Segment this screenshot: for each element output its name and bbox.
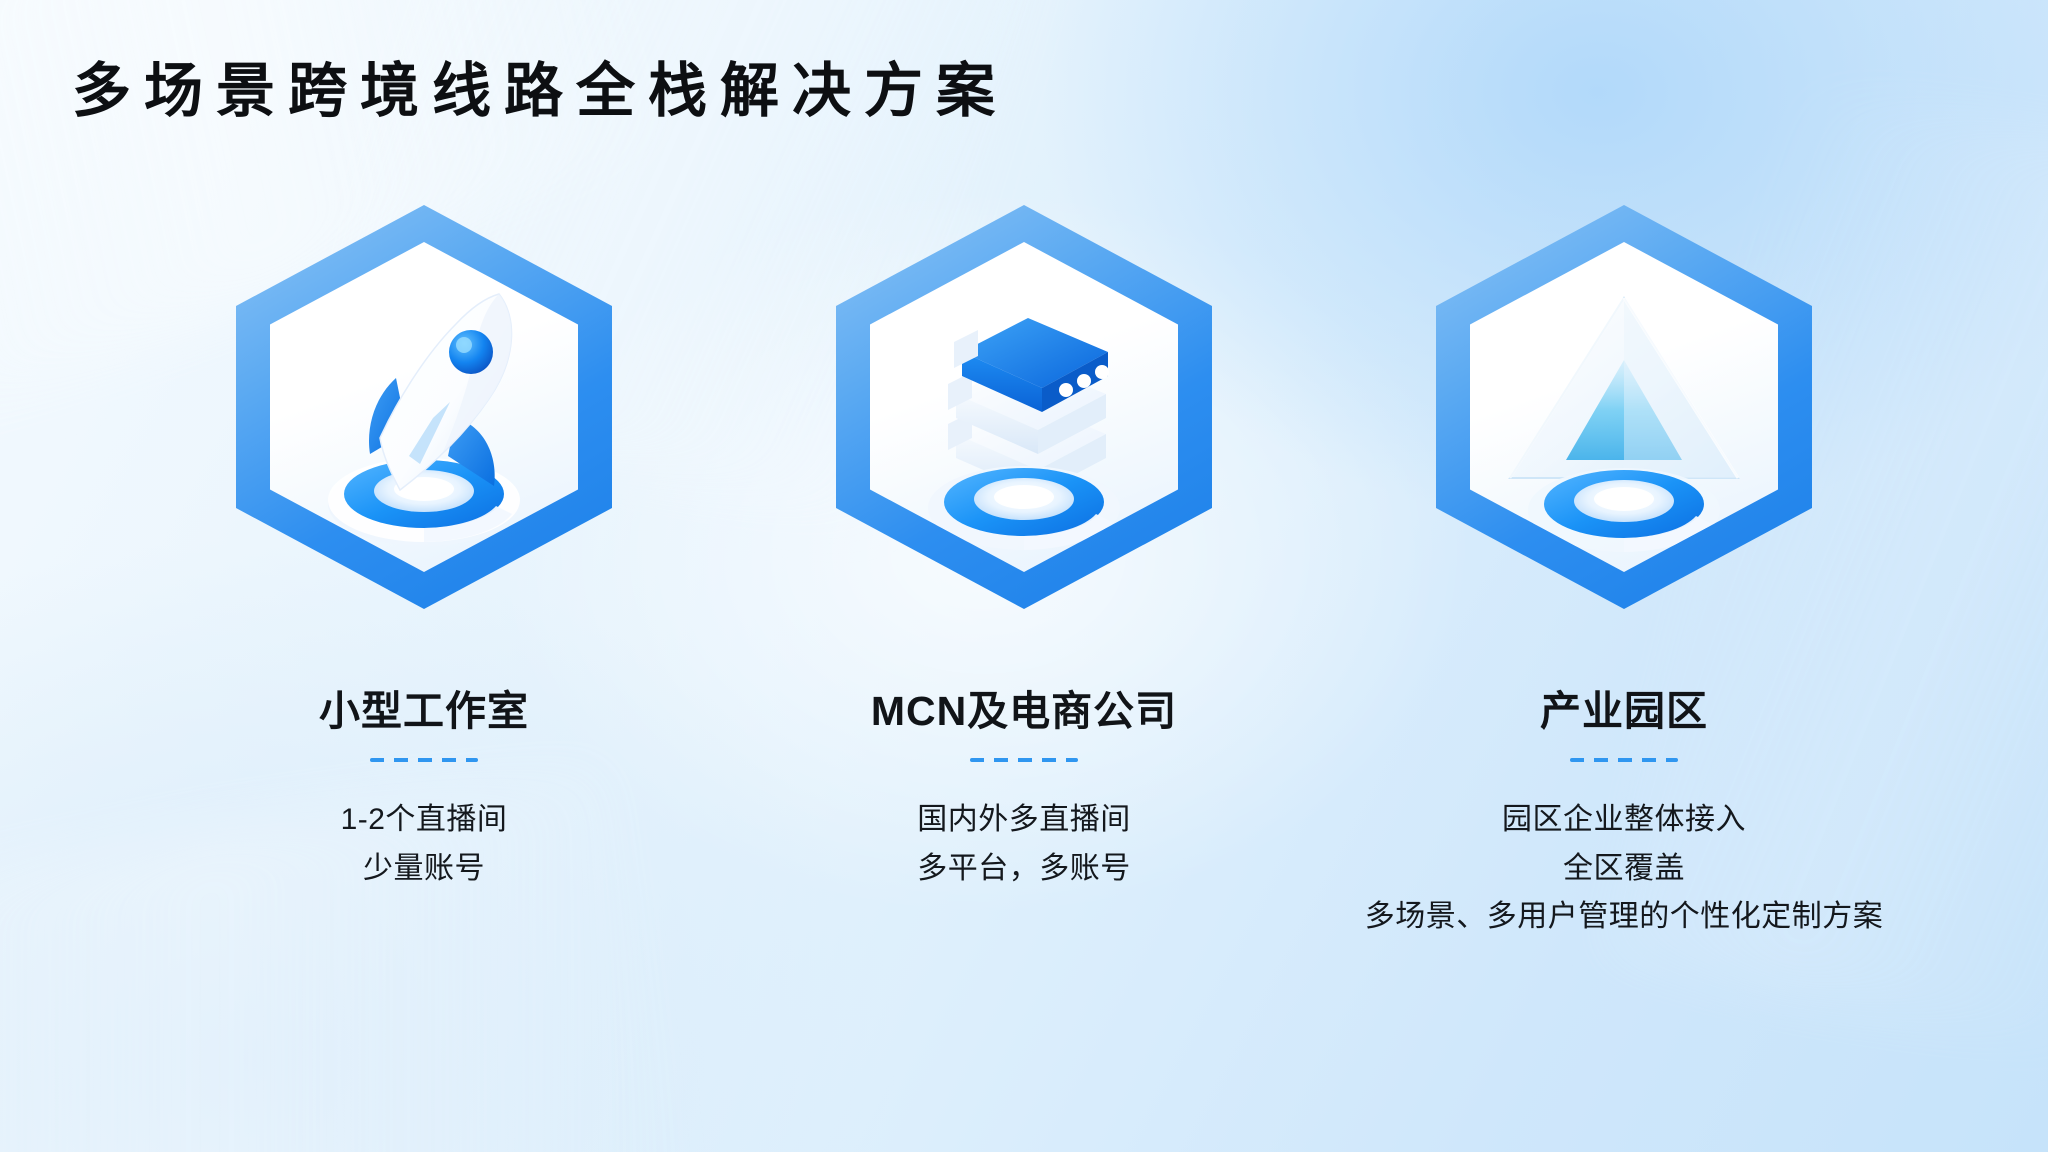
card-divider <box>370 758 478 762</box>
card-description-line: 多场景、多用户管理的个性化定制方案 <box>1365 893 1884 942</box>
card-description: 1-2个直播间 少量账号 <box>341 796 508 893</box>
solution-scenarios-banner: 多场景跨境线路全栈解决方案 <box>0 0 2048 1152</box>
scenario-card-industrial-park[interactable]: 产业园区 园区企业整体接入 全区覆盖 多场景、多用户管理的个性化定制方案 <box>1324 205 1924 942</box>
card-description-line: 少量账号 <box>341 845 508 894</box>
card-description-line: 1-2个直播间 <box>341 796 508 845</box>
hexagon-badge <box>236 205 612 609</box>
card-description-line: 国内外多直播间 <box>917 796 1131 845</box>
card-title: 小型工作室 <box>319 687 529 736</box>
card-title: 产业园区 <box>1540 687 1708 736</box>
card-description-line: 全区覆盖 <box>1365 845 1884 894</box>
hexagon-badge <box>836 205 1212 609</box>
scenario-card-small-studio[interactable]: 小型工作室 1-2个直播间 少量账号 <box>124 205 724 893</box>
card-title: MCN及电商公司 <box>871 687 1177 736</box>
card-description-line: 园区企业整体接入 <box>1365 796 1884 845</box>
card-description: 园区企业整体接入 全区覆盖 多场景、多用户管理的个性化定制方案 <box>1365 796 1884 942</box>
hexagon-badge <box>1436 205 1812 609</box>
card-divider <box>1570 758 1678 762</box>
scenario-card-list: 小型工作室 1-2个直播间 少量账号 <box>0 205 2048 942</box>
card-description-line: 多平台，多账号 <box>917 845 1131 894</box>
page-title: 多场景跨境线路全栈解决方案 <box>72 58 1008 124</box>
card-divider <box>970 758 1078 762</box>
scenario-card-mcn-ecommerce[interactable]: MCN及电商公司 国内外多直播间 多平台，多账号 <box>724 205 1324 893</box>
card-description: 国内外多直播间 多平台，多账号 <box>917 796 1131 893</box>
